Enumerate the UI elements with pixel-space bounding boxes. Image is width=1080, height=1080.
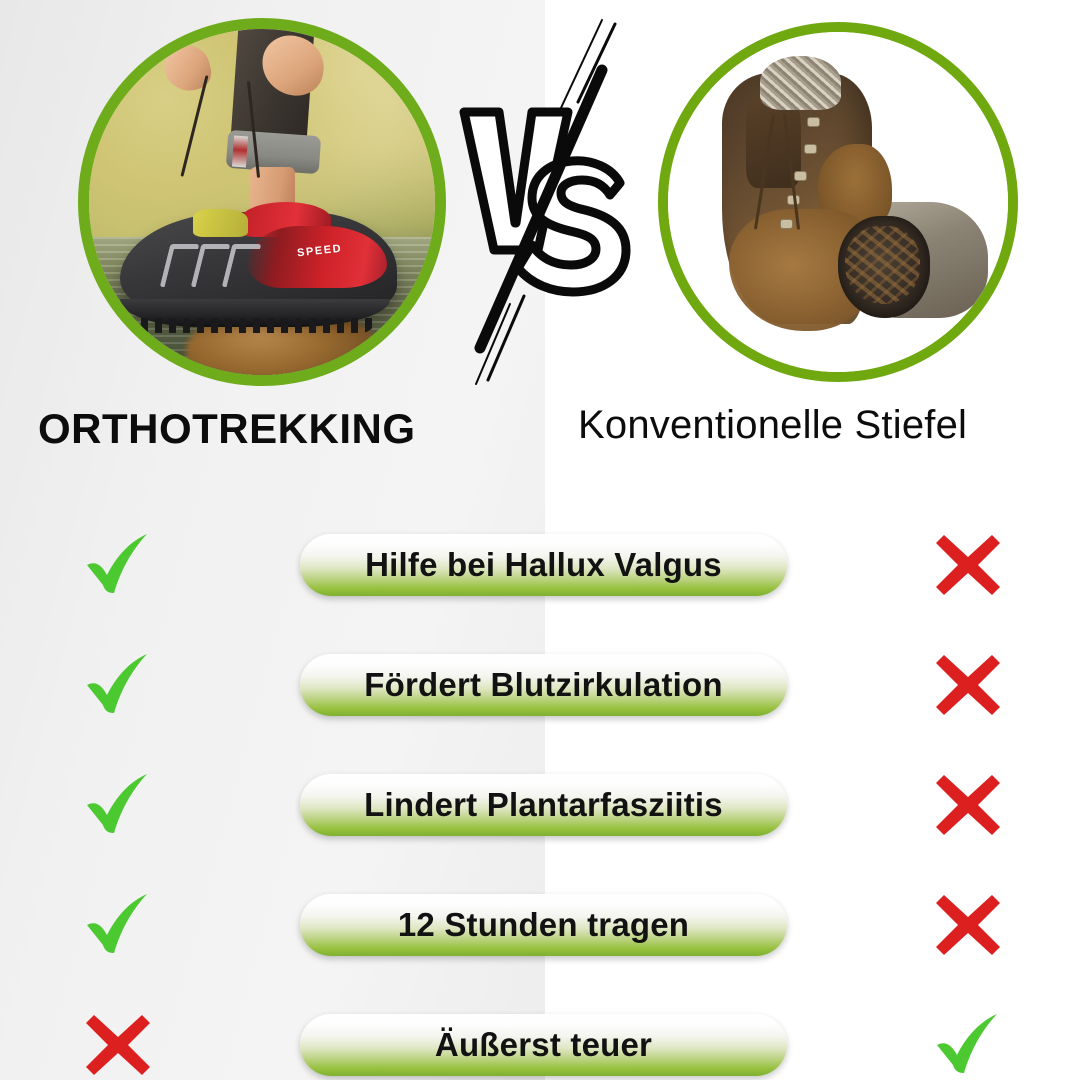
feature-label: Fördert Blutzirkulation [364, 668, 722, 701]
cross-icon [933, 652, 1003, 718]
feature-label: Hilfe bei Hallux Valgus [365, 548, 722, 581]
comparison-row: Lindert Plantarfasziitis [0, 745, 1080, 865]
right-cross-mark [878, 652, 1058, 718]
feature-badge: Lindert Plantarfasziitis [300, 774, 787, 836]
feature-label: Äußerst teuer [435, 1028, 652, 1061]
comparison-infographic: SPEED [0, 0, 1080, 1080]
trail-shoe-photo: SPEED [89, 29, 435, 375]
boot-eyelet [780, 219, 793, 229]
shoe-red-panel [248, 226, 386, 288]
cross-icon [933, 532, 1003, 598]
boot-tread-pattern [845, 226, 920, 304]
boot-eyelet [794, 171, 807, 181]
right-cross-mark [878, 892, 1058, 958]
check-icon [81, 531, 155, 599]
check-icon [81, 891, 155, 959]
comparison-row: Hilfe bei Hallux Valgus [0, 505, 1080, 625]
wool-sock-collar [760, 56, 842, 110]
hero-section: SPEED [0, 0, 1080, 470]
boot-eyelet [804, 144, 817, 154]
left-check-mark [28, 891, 208, 959]
right-product-title: Konventionelle Stiefel [578, 403, 967, 448]
feature-badge: Hilfe bei Hallux Valgus [300, 534, 787, 596]
right-check-mark [878, 1011, 1058, 1079]
feature-label: 12 Stunden tragen [398, 908, 689, 941]
left-product-image-circle: SPEED [78, 18, 446, 386]
check-icon [81, 771, 155, 839]
comparison-rows: Hilfe bei Hallux ValgusFördert Blutzirku… [0, 505, 1080, 1080]
versus-emblem [452, 18, 642, 388]
cross-icon [933, 772, 1003, 838]
comparison-row: Fördert Blutzirkulation [0, 625, 1080, 745]
feature-badge: Fördert Blutzirkulation [300, 654, 787, 716]
cross-icon [933, 892, 1003, 958]
vs-icon [452, 18, 642, 388]
check-icon [931, 1011, 1005, 1079]
right-cross-mark [878, 772, 1058, 838]
left-check-mark [28, 771, 208, 839]
cross-icon [83, 1012, 153, 1078]
cuff-tag [232, 136, 248, 168]
hiking-boots-photo [668, 32, 1008, 372]
shoe-outsole-lugs [127, 318, 376, 334]
left-check-mark [28, 651, 208, 719]
comparison-row: 12 Stunden tragen [0, 865, 1080, 985]
left-cross-mark [28, 1012, 208, 1078]
shoe-tongue [193, 209, 248, 237]
boot-eyelet [807, 117, 820, 127]
right-product-image-circle [658, 22, 1018, 382]
left-check-mark [28, 531, 208, 599]
right-cross-mark [878, 532, 1058, 598]
check-icon [81, 651, 155, 719]
left-product-title: ORTHOTREKKING [38, 405, 416, 453]
feature-badge: 12 Stunden tragen [300, 894, 787, 956]
left-hand [160, 42, 215, 97]
feature-label: Lindert Plantarfasziitis [364, 788, 723, 821]
comparison-row: Äußerst teuer [0, 985, 1080, 1080]
feature-badge: Äußerst teuer [300, 1014, 787, 1076]
